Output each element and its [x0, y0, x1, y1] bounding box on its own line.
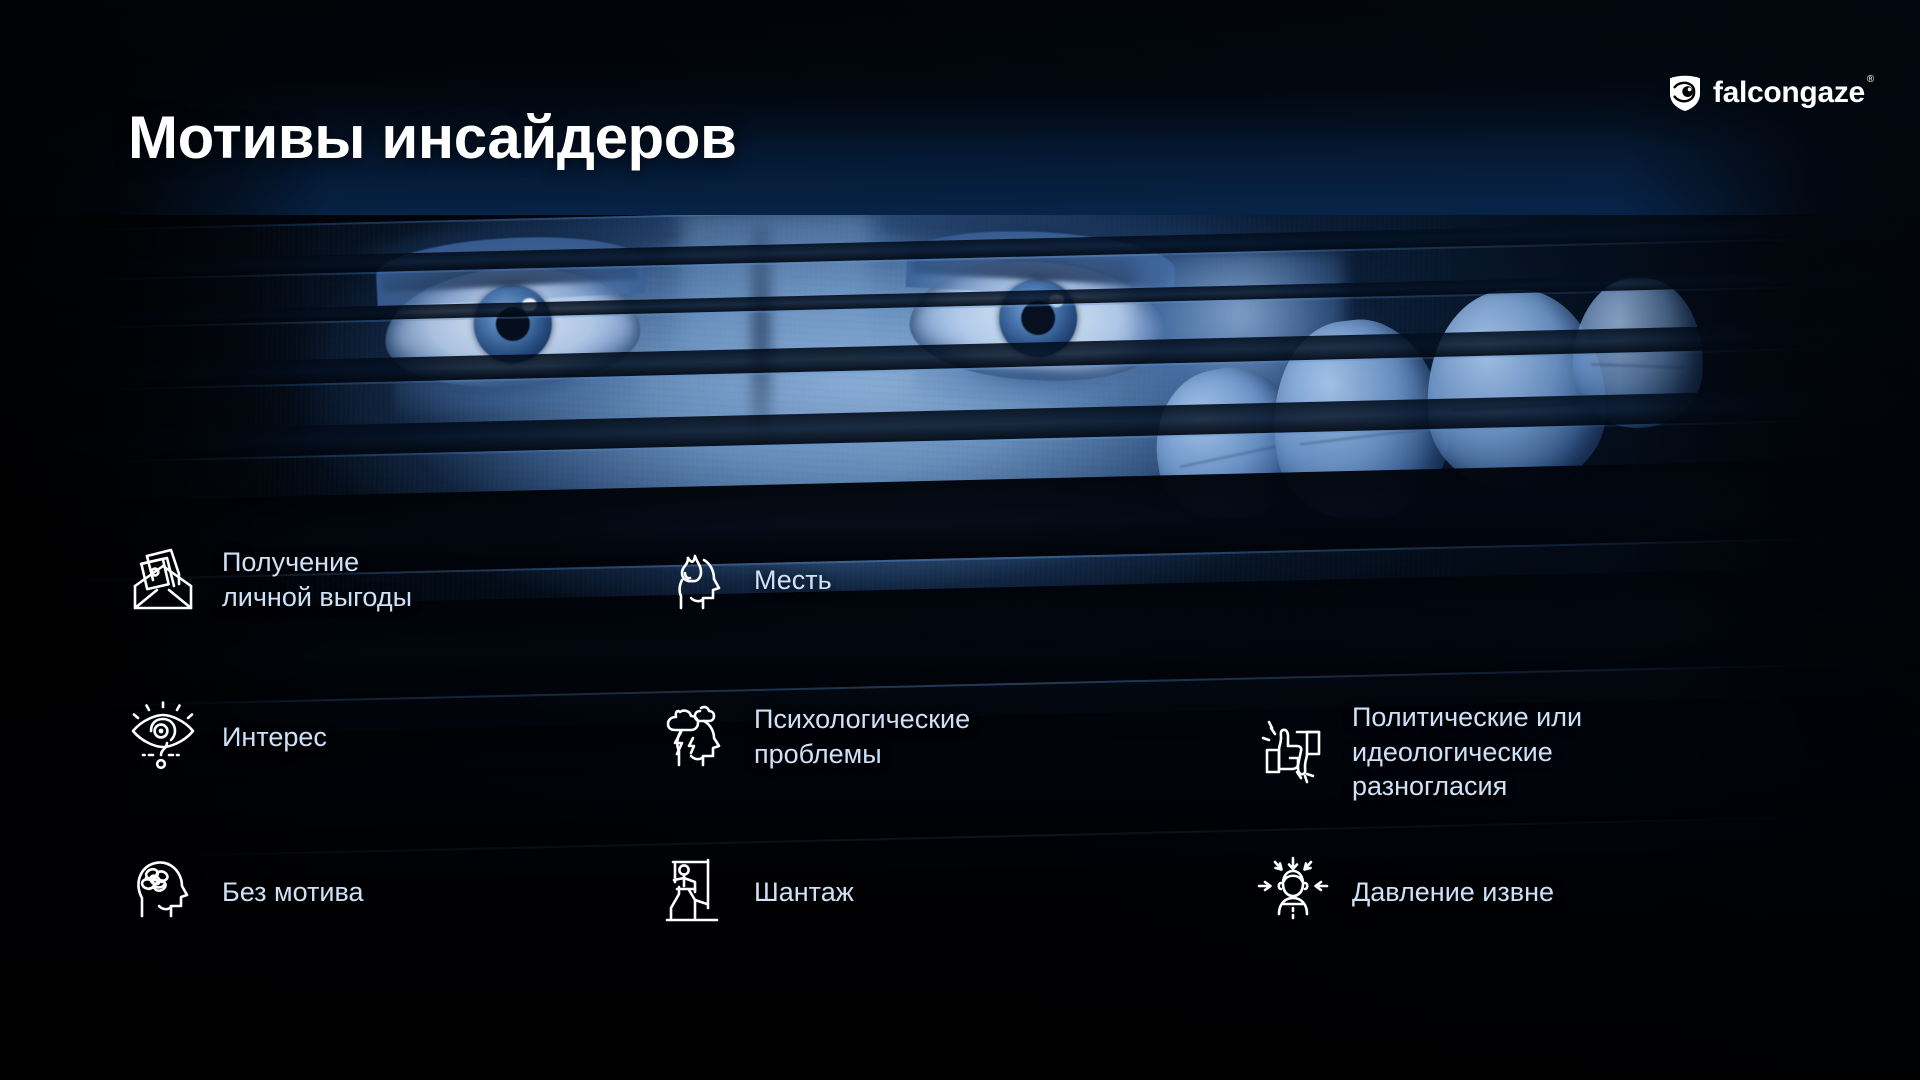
brand-name: falcongaze [1713, 76, 1865, 109]
motive-no-motive[interactable]: Без мотива [126, 855, 364, 929]
motive-label: Психологические проблемы [754, 702, 970, 771]
brand-trademark: ® [1867, 74, 1874, 85]
motive-label: Без мотива [222, 875, 364, 910]
motive-label: Интерес [222, 720, 327, 755]
head-storm-cloud-icon [658, 700, 732, 774]
motive-revenge[interactable]: Месть [658, 543, 832, 617]
motive-label: Шантаж [754, 875, 854, 910]
motive-personal-gain[interactable]: Получение личной выгоды [126, 543, 412, 617]
motive-label: Политические или идеологические разногла… [1352, 700, 1582, 804]
envelope-money-icon [126, 543, 200, 617]
motive-curiosity[interactable]: Интерес [126, 700, 327, 774]
thumbs-clash-icon [1256, 715, 1330, 789]
motive-blackmail[interactable]: Шантаж [658, 855, 854, 929]
eye-question-icon [126, 700, 200, 774]
page-title: Мотивы инсайдеров [128, 106, 737, 169]
brand-logo: falcongaze® [1668, 74, 1874, 112]
motive-label: Месть [754, 563, 832, 598]
brand-wordmark: falcongaze® [1713, 78, 1874, 108]
person-cornered-icon [658, 855, 732, 929]
person-pressure-arrows-icon [1256, 855, 1330, 929]
motive-label: Получение личной выгоды [222, 545, 412, 614]
motive-psychological-problems[interactable]: Психологические проблемы [658, 700, 970, 774]
motive-label: Давление извне [1352, 875, 1554, 910]
motive-external-pressure[interactable]: Давление извне [1256, 855, 1554, 929]
shield-eye-icon [1668, 74, 1702, 112]
motive-political-ideological[interactable]: Политические или идеологические разногла… [1256, 700, 1582, 804]
head-tangled-thoughts-icon [126, 855, 200, 929]
head-flame-icon [658, 543, 732, 617]
